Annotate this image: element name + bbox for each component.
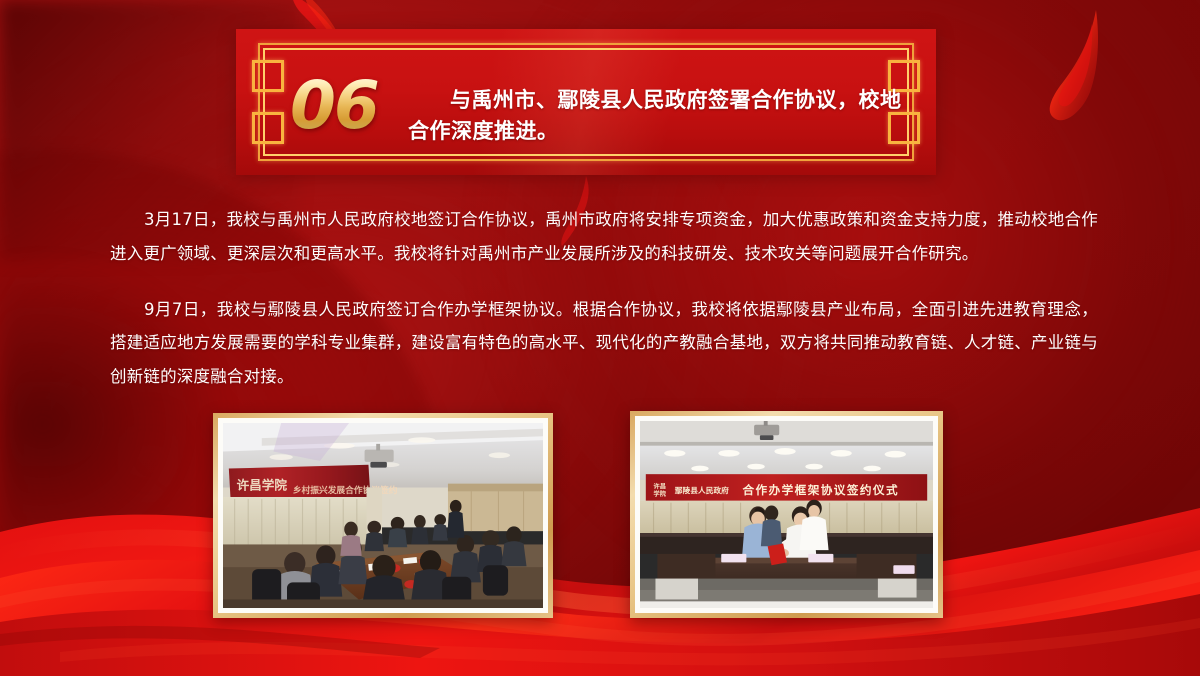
corner-square-bottom-left [252,112,284,144]
body-text-block: 3月17日，我校与禹州市人民政府校地签订合作协议，禹州市政府将安排专项资金，加大… [110,203,1098,394]
svg-text:学院: 学院 [654,490,667,498]
photo-frame-meeting: 许昌学院 乡村振兴发展合作协议签约 [213,413,553,618]
meeting-photo: 许昌学院 乡村振兴发展合作协议签约 [223,423,543,608]
photo-mat-meeting: 许昌学院 乡村振兴发展合作协议签约 [218,418,548,613]
photo-frame-signing: 许昌 学院 鄢陵县人民政府 合作办学框架协议签约仪式 [630,411,943,618]
signing-ceremony-photo: 许昌 学院 鄢陵县人民政府 合作办学框架协议签约仪式 [640,421,933,608]
silk-ribbon-decoration [0,446,1200,676]
svg-text:合作办学框架协议签约仪式: 合作办学框架协议签约仪式 [743,483,899,497]
svg-text:许昌: 许昌 [654,482,667,490]
paragraph-1: 3月17日，我校与禹州市人民政府校地签订合作协议，禹州市政府将安排专项资金，加大… [110,203,1098,271]
svg-text:许昌学院: 许昌学院 [237,478,288,493]
photo-mat-signing: 许昌 学院 鄢陵县人民政府 合作办学框架协议签约仪式 [635,416,938,613]
corner-square-top-left [252,60,284,92]
svg-text:乡村振兴发展合作协议签约: 乡村振兴发展合作协议签约 [293,484,398,496]
slide-root: 06 与禹州市、鄢陵县人民政府签署合作协议，校地合作深度推进。 3月17日，我校… [0,0,1200,676]
svg-text:鄢陵县人民政府: 鄢陵县人民政府 [674,485,729,495]
paragraph-2: 9月7日，我校与鄢陵县人民政府签订合作办学框架协议。根据合作协议，我校将依据鄢陵… [110,293,1098,394]
title-banner: 06 与禹州市、鄢陵县人民政府签署合作协议，校地合作深度推进。 [236,29,936,175]
section-number: 06 [290,73,378,139]
section-title: 与禹州市、鄢陵县人民政府签署合作协议，校地合作深度推进。 [408,85,914,147]
